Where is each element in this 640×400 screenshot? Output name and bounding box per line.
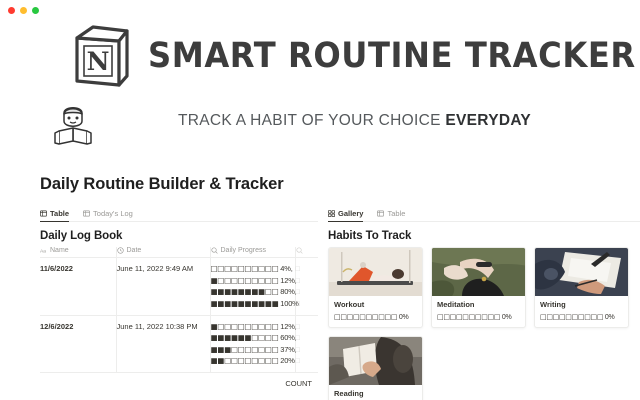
habits-card-grid: Workout □□□□□□□□□□ 0% [328, 247, 640, 400]
page-title: Daily Routine Builder & Tracker [40, 175, 284, 194]
card-title: Workout [334, 300, 417, 309]
cell-daily-progress: □□□□□□□□□□ 4%, ■□□□□□□□□□ 12%, ■■■■■■■■□… [210, 258, 295, 316]
subtitle-bold: EVERYDAY [445, 112, 531, 129]
table-row[interactable]: 12/6/2022 June 11, 2022 10:38 PM ■□□□□□□… [40, 315, 318, 373]
tab-table[interactable]: Table [40, 209, 69, 222]
extra-blocks: □ [296, 332, 313, 344]
svg-text:Aa: Aa [40, 248, 46, 254]
extra-blocks: □ [296, 263, 313, 275]
cell-extra: □ □ □ □ [295, 258, 318, 316]
subtitle-text: TRACK A HABIT OF YOUR CHOICE EVERYDAY [178, 112, 531, 130]
gallery-card[interactable]: Reading [328, 336, 423, 400]
progress-blocks: □□□□□□□□□□ [211, 264, 279, 273]
extra-blocks: □ [296, 275, 313, 287]
progress-blocks: ■■■■■■■■■■ [211, 299, 279, 308]
svg-text:N: N [87, 47, 110, 76]
writing-photo [535, 248, 628, 296]
tab-todays-log[interactable]: Today's Log [83, 209, 133, 222]
extra-blocks: □ [296, 286, 313, 298]
table-view-icon [377, 210, 384, 217]
daily-log-panel: Table Today's Log Daily Log Book [40, 205, 318, 400]
cell-name: 11/6/2022 [40, 258, 116, 316]
meditation-photo [432, 248, 525, 296]
clock-property-icon [117, 247, 124, 254]
table-footer-row: COUNT [40, 373, 318, 395]
window-minimize-button[interactable] [20, 7, 27, 14]
cell-date: June 11, 2022 10:38 PM [116, 315, 210, 373]
window-close-button[interactable] [8, 7, 15, 14]
tab-habits-table-label: Table [387, 209, 405, 218]
table-count-label[interactable]: COUNT [40, 373, 318, 395]
habits-gallery-panel: Gallery Table Habits To Track [328, 205, 640, 400]
card-progress-pct: 0% [399, 314, 409, 321]
card-progress-pct: 0% [502, 314, 512, 321]
progress-pct: 20% [280, 356, 294, 365]
card-progress: □□□□□□□□□□ 0% [334, 313, 417, 321]
card-title: Writing [540, 300, 623, 309]
tab-habits-table[interactable]: Table [377, 209, 405, 222]
left-view-tabs: Table Today's Log [40, 205, 318, 222]
notion-cube-icon: N [72, 24, 130, 88]
card-progress-pct: 0% [605, 314, 615, 321]
card-progress-blocks: □□□□□□□□□□ [540, 313, 603, 321]
card-title: Meditation [437, 300, 520, 309]
progress-blocks: ■■□□□□□□□□ [211, 356, 279, 365]
reading-photo [329, 337, 422, 385]
card-progress-blocks: □□□□□□□□□□ [437, 313, 500, 321]
subtitle-normal: TRACK A HABIT OF YOUR CHOICE [178, 112, 445, 129]
table-view-icon [40, 210, 47, 217]
daily-log-table: Aa Name [40, 247, 318, 395]
table-view-icon [83, 210, 90, 217]
progress-blocks: ■■■■■■□□□□ [211, 333, 279, 342]
progress-pct: 37%, [280, 345, 296, 354]
cell-date: June 11, 2022 9:49 AM [116, 258, 210, 316]
progress-pct: 4%, [280, 264, 292, 273]
progress-blocks: ■□□□□□□□□□ [211, 322, 279, 331]
tab-todays-log-label: Today's Log [93, 209, 133, 218]
column-header-extra[interactable] [295, 247, 318, 258]
app-title: SMART ROUTINE TRACKER [148, 36, 636, 76]
progress-blocks: ■■■□□□□□□□ [211, 345, 279, 354]
extra-blocks: □ [296, 344, 313, 356]
card-progress: □□□□□□□□□□ 0% [437, 313, 520, 321]
column-header-name[interactable]: Aa Name [40, 247, 116, 258]
text-property-icon: Aa [40, 247, 47, 254]
database-title-daily-log: Daily Log Book [40, 230, 318, 242]
column-header-name-label: Name [50, 247, 69, 254]
extra-blocks: □ [296, 355, 313, 367]
extra-blocks: □ [296, 321, 313, 333]
gallery-card[interactable]: Workout □□□□□□□□□□ 0% [328, 247, 423, 328]
window-maximize-button[interactable] [32, 7, 39, 14]
tab-gallery[interactable]: Gallery [328, 209, 363, 222]
gallery-card[interactable]: Meditation □□□□□□□□□□ 0% [431, 247, 526, 328]
table-header-row: Aa Name [40, 247, 318, 258]
formula-property-icon [296, 247, 303, 254]
extra-blocks: □ [296, 298, 313, 310]
hero-banner: N SMART ROUTINE TRACKER [0, 16, 640, 96]
column-header-daily-progress-label: Daily Progress [221, 247, 267, 254]
tab-table-label: Table [50, 209, 69, 218]
workout-photo [329, 248, 422, 296]
person-reading-book-icon [47, 100, 99, 152]
column-header-date-label: Date [127, 247, 142, 254]
progress-blocks: ■□□□□□□□□□ [211, 276, 279, 285]
app-window: N SMART ROUTINE TRACKER [0, 0, 640, 400]
cell-name: 12/6/2022 [40, 315, 116, 373]
progress-pct: 60%, [280, 333, 296, 342]
column-header-daily-progress[interactable]: Daily Progress [210, 247, 295, 258]
progress-pct: 12%, [280, 322, 296, 331]
progress-blocks: ■■■■■■■■□□ [211, 287, 279, 296]
gallery-card[interactable]: Writing □□□□□□□□□□ 0% [534, 247, 629, 328]
cell-daily-progress: ■□□□□□□□□□ 12%, ■■■■■■□□□□ 60%, ■■■□□□□□… [210, 315, 295, 373]
formula-property-icon [211, 247, 218, 254]
card-progress-blocks: □□□□□□□□□□ [334, 313, 397, 321]
subheader-band: TRACK A HABIT OF YOUR CHOICE EVERYDAY [0, 100, 640, 158]
gallery-view-icon [328, 210, 335, 217]
card-title: Reading [334, 389, 417, 398]
tab-gallery-label: Gallery [338, 209, 363, 218]
card-progress: □□□□□□□□□□ 0% [540, 313, 623, 321]
column-header-date[interactable]: Date [116, 247, 210, 258]
progress-pct: 80%, [280, 287, 296, 296]
right-view-tabs: Gallery Table [328, 205, 640, 222]
progress-pct: 12%, [280, 276, 296, 285]
table-row[interactable]: 11/6/2022 June 11, 2022 9:49 AM □□□□□□□□… [40, 258, 318, 316]
cell-extra: □ □ □ □ [295, 315, 318, 373]
database-title-habits: Habits To Track [328, 230, 640, 242]
